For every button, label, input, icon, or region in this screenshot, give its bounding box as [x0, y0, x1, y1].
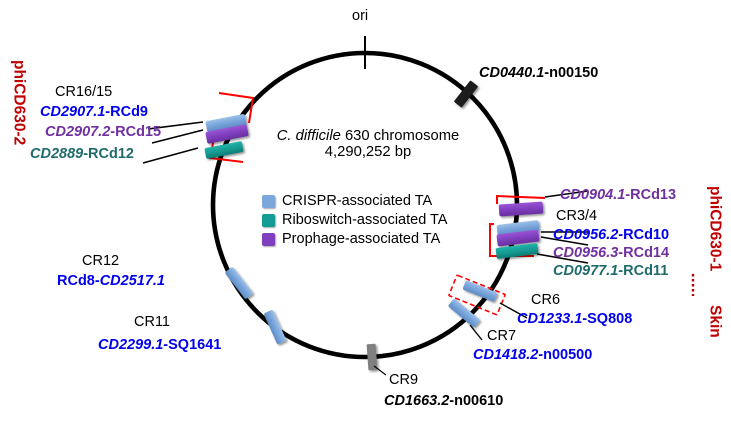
annotation-cd2907-1: CD2907.1-RCd9: [40, 104, 148, 120]
gene-id-cd2907-1: CD2907.1: [40, 104, 105, 120]
gene-suffix-cd2889: -RCd12: [83, 146, 134, 162]
marker-prophage-right-top: [499, 201, 544, 216]
gene-suffix-cd1233-1: -SQ808: [582, 311, 632, 327]
annotation-cd0956-3: CD0956.3-RCd14: [553, 245, 669, 261]
region-label-skin: Skin: [706, 305, 723, 338]
gene-prefix-rcd8: RCd8-: [57, 273, 100, 289]
genome-size: 4,290,252 bp: [268, 144, 468, 160]
gene-suffix-cd1663-2: -n00610: [449, 393, 503, 409]
organism-title-rest: 630 chromosome: [341, 128, 459, 144]
gene-id-cd0977-1: CD0977.1: [553, 263, 618, 279]
cr-label-cr9: CR9: [389, 372, 418, 388]
cr-label-cr6: CR6: [531, 292, 560, 308]
leader-cd2889: [143, 148, 198, 163]
gene-id-cd0904-1: CD0904.1: [560, 187, 625, 203]
legend-item-riboswitch: Riboswitch-associated TA: [262, 212, 447, 228]
annotation-cd1418-2: CD1418.2-n00500: [473, 347, 592, 363]
organism-name: C. difficile: [277, 128, 341, 144]
gene-id-cd1233-1: CD1233.1: [517, 311, 582, 327]
legend-item-crispr: CRISPR-associated TA: [262, 193, 447, 209]
gene-suffix-cd0440: -n00150: [544, 65, 598, 81]
annotation-cd2889: CD2889-RCd12: [30, 146, 134, 162]
cr-label-cr12: CR12: [82, 253, 119, 269]
legend-label-prophage: Prophage-associated TA: [282, 231, 440, 247]
gene-id-cd0956-2: CD0956.2: [553, 227, 618, 243]
gene-suffix-cd0977-1: -RCd11: [618, 263, 668, 279]
annotation-cd1233-1: CD1233.1-SQ808: [517, 311, 632, 327]
gene-suffix-cd1418-2: -n00500: [538, 347, 592, 363]
gene-id-cd1663-2: CD1663.2: [384, 393, 449, 409]
gene-suffix-cd0956-2: -RCd10: [618, 227, 669, 243]
gene-id-cd2889: CD2889: [30, 146, 83, 162]
gene-id-cd0440: CD0440.1: [479, 65, 544, 81]
legend: CRISPR-associated TA Riboswitch-associat…: [262, 193, 447, 250]
ori-label: ori: [352, 8, 368, 24]
chromosome-title: C. difficile 630 chromosome 4,290,252 bp: [268, 128, 468, 160]
gene-suffix-cd2907-1: -RCd9: [105, 104, 148, 120]
gene-id-cd2299-1: CD2299.1: [98, 337, 163, 353]
annotation-cd2299-1: CD2299.1-SQ1641: [98, 337, 221, 353]
annotation-cd0440: CD0440.1-n00150: [479, 65, 598, 81]
gene-suffix-cd2299-1: -SQ1641: [163, 337, 221, 353]
crispr-swatch-icon: [262, 195, 275, 208]
riboswitch-swatch-icon: [262, 214, 275, 227]
legend-item-prophage: Prophage-associated TA: [262, 231, 447, 247]
annotation-cd0904-1: CD0904.1-RCd13: [560, 187, 676, 203]
prophage-swatch-icon: [262, 233, 275, 246]
cr-label-cr3-4: CR3/4: [556, 208, 597, 224]
annotation-cd0956-2: CD0956.2-RCd10: [553, 227, 669, 243]
annotation-cd0977-1: CD0977.1-RCd11: [553, 263, 668, 279]
region-label-phicd630-2: phiCD630-2: [10, 60, 27, 145]
leader-cr7: [470, 325, 482, 340]
annotation-cd2517-1: RCd8-CD2517.1: [57, 273, 165, 289]
gene-suffix-cd0904-1: -RCd13: [625, 187, 676, 203]
annotation-cd2907-2: CD2907.2-RCd15: [45, 124, 161, 140]
gene-suffix-cd2907-2: -RCd15: [110, 124, 161, 140]
gene-id-cd1418-2: CD1418.2: [473, 347, 538, 363]
gene-id-cd2907-2: CD2907.2: [45, 124, 110, 140]
legend-label-crispr: CRISPR-associated TA: [282, 193, 432, 209]
leader-cr9: [374, 366, 386, 375]
gene-suffix-cd0956-3: -RCd14: [618, 245, 669, 261]
marker-cr9-gray-tick: [367, 344, 378, 371]
gene-id-cd0956-3: CD0956.3: [553, 245, 618, 261]
cr-label-cr7: CR7: [487, 328, 516, 344]
cr-label-cr11: CR11: [134, 314, 170, 330]
annotation-cd1663-2: CD1663.2-n00610: [384, 393, 503, 409]
region-label-phicd630-1: phiCD630-1: [706, 186, 723, 271]
marker-cr11-crispr: [264, 309, 287, 344]
gene-id-cd2517-1: CD2517.1: [100, 273, 165, 289]
legend-label-riboswitch: Riboswitch-associated TA: [282, 212, 447, 228]
cr-label-cr16-15: CR16/15: [55, 84, 112, 100]
marker-cr12-crispr: [225, 267, 254, 300]
